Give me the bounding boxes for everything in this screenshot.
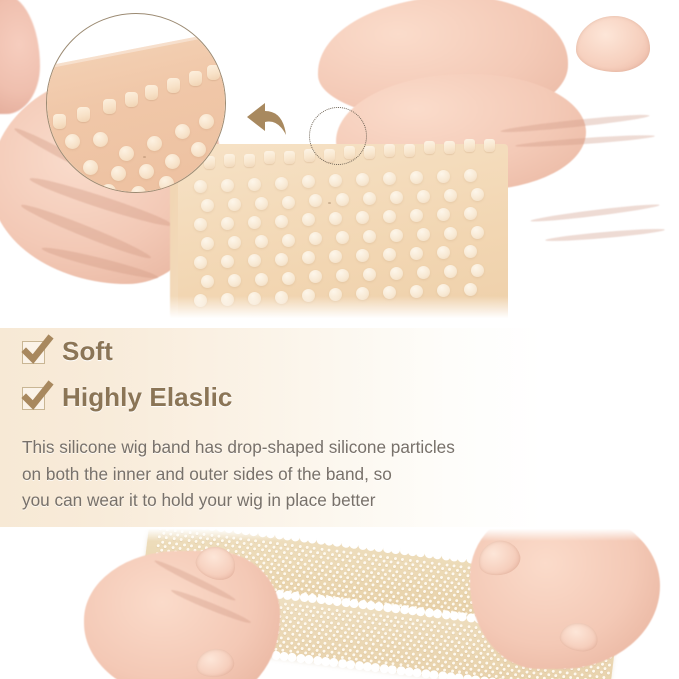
band-particle: [307, 626, 310, 629]
band-particle: [456, 657, 459, 660]
patch-particle: [221, 217, 234, 230]
patch-edge-nub: [284, 151, 295, 164]
band-particle: [351, 632, 354, 635]
band-particle: [521, 674, 524, 677]
band-particle: [407, 656, 410, 659]
patch-particle: [255, 197, 268, 210]
band-particle: [427, 646, 430, 649]
band-particle: [301, 609, 304, 612]
band-particle: [414, 598, 417, 601]
band-particle: [406, 575, 409, 578]
patch-particle: [194, 218, 207, 231]
band-particle: [385, 564, 388, 567]
patch-particle: [356, 173, 369, 186]
band-particle: [360, 557, 363, 560]
band-particle: [335, 579, 338, 582]
band-particle: [440, 575, 443, 578]
band-particle: [326, 586, 329, 589]
band-particle: [464, 591, 467, 594]
band-particle: [388, 569, 391, 572]
band-particle: [430, 621, 433, 624]
band-particle: [386, 615, 389, 618]
band-particle: [413, 644, 416, 647]
band-particle: [307, 559, 310, 562]
band-particle: [286, 645, 289, 648]
band-particle: [263, 553, 266, 556]
band-particle: [421, 577, 424, 580]
band-particle: [440, 634, 443, 637]
band-particle: [503, 667, 506, 670]
band-particle: [334, 558, 337, 561]
band-particle: [335, 609, 338, 612]
band-particle: [404, 651, 407, 654]
patch-edge-nub: [384, 144, 395, 157]
band-particle: [356, 590, 359, 593]
band-particle: [397, 650, 400, 653]
band-particle: [350, 573, 353, 576]
band-particle: [257, 544, 260, 547]
band-particle: [308, 588, 311, 591]
patch-particle: [444, 265, 457, 278]
patch-particle: [444, 189, 457, 202]
band-particle: [342, 610, 345, 613]
band-particle: [294, 638, 297, 641]
band-particle: [466, 633, 469, 636]
band-particle: [323, 582, 326, 585]
band-particle: [280, 568, 283, 571]
magnified-particle: [139, 164, 154, 179]
band-particle: [327, 616, 330, 619]
band-particle: [439, 643, 442, 646]
band-particle: [404, 622, 407, 625]
band-particle: [405, 643, 408, 646]
band-particle: [281, 560, 284, 563]
band-particle: [375, 618, 378, 621]
band-particle: [471, 651, 474, 654]
band-particle: [411, 622, 414, 625]
band-particle: [273, 567, 276, 570]
patch-particle: [282, 196, 295, 209]
band-particle: [190, 544, 193, 547]
band-particle: [329, 561, 332, 564]
magnified-nub: [167, 78, 180, 93]
band-particle: [372, 643, 375, 646]
band-particle: [293, 557, 296, 560]
band-particle: [480, 644, 483, 647]
band-particle: [271, 554, 274, 557]
band-particle: [551, 669, 554, 672]
band-particle: [290, 641, 293, 644]
band-particle: [321, 569, 324, 572]
band-particle: [474, 656, 477, 659]
band-particle: [344, 563, 347, 566]
band-particle: [359, 654, 362, 657]
band-particle: [298, 604, 301, 607]
band-particle: [322, 620, 325, 623]
band-particle: [400, 596, 403, 599]
magnified-speck: [143, 156, 146, 158]
band-particle: [287, 577, 290, 580]
band-particle: [319, 615, 322, 618]
band-particle: [434, 587, 437, 590]
band-particle: [484, 669, 487, 672]
band-particle: [445, 652, 448, 655]
band-particle: [554, 674, 557, 677]
band-particle: [455, 666, 458, 669]
band-particle: [318, 564, 321, 567]
band-particle: [404, 592, 407, 595]
band-particle: [349, 581, 352, 584]
band-particle: [301, 639, 304, 642]
band-particle: [330, 553, 333, 556]
band-particle: [429, 629, 432, 632]
band-particle: [386, 645, 389, 648]
band-particle: [428, 578, 431, 581]
band-particle: [403, 630, 406, 633]
band-particle: [301, 549, 304, 552]
band-particle: [345, 652, 348, 655]
band-particle: [371, 584, 374, 587]
band-particle: [323, 612, 326, 615]
band-particle: [441, 626, 444, 629]
band-particle: [449, 589, 452, 592]
band-particle: [419, 623, 422, 626]
band-particle: [299, 626, 302, 629]
band-particle: [350, 551, 353, 554]
band-stretch-demo-photo: [0, 527, 679, 679]
band-particle: [252, 556, 255, 559]
band-particle: [452, 594, 455, 597]
patch-particle: [417, 190, 430, 203]
band-particle: [393, 565, 396, 568]
patch-particle: [282, 234, 295, 247]
band-particle: [253, 548, 256, 551]
band-particle: [278, 644, 281, 647]
band-particle: [275, 580, 278, 583]
band-particle: [394, 646, 397, 649]
band-particle: [573, 672, 576, 675]
band-particle: [460, 624, 463, 627]
band-particle: [381, 657, 384, 660]
band-particle: [284, 602, 287, 605]
band-particle: [481, 665, 484, 668]
patch-particle: [417, 266, 430, 279]
band-particle: [312, 644, 315, 647]
band-particle: [438, 562, 441, 565]
magnified-particle: [159, 176, 174, 191]
magnified-particle: [199, 114, 214, 129]
band-particle: [379, 614, 382, 617]
feature-label: Soft: [62, 338, 113, 364]
band-particle: [525, 670, 528, 673]
band-particle: [447, 635, 450, 638]
band-particle: [391, 641, 394, 644]
band-particle: [495, 667, 498, 670]
band-particle: [422, 658, 425, 661]
band-particle: [314, 627, 317, 630]
band-particle: [305, 546, 308, 549]
band-particle: [390, 649, 393, 652]
band-particle: [296, 561, 299, 564]
band-particle: [393, 624, 396, 627]
patch-edge-nub: [444, 141, 455, 154]
band-particle: [400, 655, 403, 658]
band-particle: [373, 635, 376, 638]
band-particle: [370, 592, 373, 595]
band-particle: [319, 645, 322, 648]
patch-edge-nub: [464, 139, 475, 152]
band-particle: [366, 596, 369, 599]
band-particle: [348, 627, 351, 630]
band-particle: [285, 556, 288, 559]
band-particle: [308, 618, 311, 621]
band-particle: [479, 652, 482, 655]
band-particle: [438, 584, 441, 587]
band-particle: [328, 570, 331, 573]
band-particle: [349, 649, 352, 652]
band-particle: [416, 581, 419, 584]
band-particle: [467, 625, 470, 628]
patch-edge-nub: [484, 139, 495, 152]
patch-particle: [228, 198, 241, 211]
band-particle: [260, 549, 263, 552]
band-particle: [316, 581, 319, 584]
band-particle: [379, 555, 382, 558]
patch-particle: [221, 255, 234, 268]
band-particle: [506, 672, 509, 675]
band-particle: [422, 569, 425, 572]
band-particle: [425, 633, 428, 636]
band-particle: [388, 599, 391, 602]
band-particle: [353, 645, 356, 648]
band-particle: [291, 633, 294, 636]
band-particle: [357, 612, 360, 615]
band-particle: [297, 583, 300, 586]
band-particle: [458, 603, 461, 606]
band-particle: [478, 660, 481, 663]
band-particle: [454, 577, 457, 580]
band-particle: [279, 576, 282, 579]
patch-particle: [363, 192, 376, 205]
band-particle: [472, 643, 475, 646]
band-particle: [234, 549, 237, 552]
band-particle: [390, 582, 393, 585]
patch-particle: [437, 284, 450, 297]
band-particle: [394, 557, 397, 560]
band-particle: [267, 558, 270, 561]
band-particle: [305, 575, 308, 578]
band-particle: [367, 558, 370, 561]
patch-particle: [390, 267, 403, 280]
magnified-edge-callout: [46, 13, 226, 193]
band-particle: [311, 623, 314, 626]
band-particle: [376, 639, 379, 642]
band-particle: [444, 660, 447, 663]
band-particle: [175, 542, 178, 545]
band-particle: [389, 620, 392, 623]
band-particle: [463, 599, 466, 602]
band-particle: [337, 622, 340, 625]
band-particle: [452, 564, 455, 567]
band-particle: [312, 555, 315, 558]
band-particle: [292, 625, 295, 628]
band-particle: [577, 668, 580, 671]
band-particle: [460, 586, 463, 589]
patch-particle: [437, 208, 450, 221]
band-particle: [455, 599, 458, 602]
band-particle: [396, 629, 399, 632]
band-particle: [459, 574, 462, 577]
band-particle: [437, 592, 440, 595]
band-particle: [441, 656, 444, 659]
band-particle: [483, 648, 486, 651]
band-particle: [489, 657, 492, 660]
band-particle: [298, 574, 301, 577]
patch-particle: [282, 272, 295, 285]
band-particle: [291, 603, 294, 606]
band-particle: [346, 644, 349, 647]
band-particle: [392, 633, 395, 636]
band-particle: [335, 638, 338, 641]
band-particle: [469, 609, 472, 612]
band-particle: [412, 652, 415, 655]
band-particle: [402, 579, 405, 582]
band-particle: [372, 613, 375, 616]
band-particle: [595, 675, 598, 678]
band-particle: [517, 669, 520, 672]
band-particle: [442, 588, 445, 591]
band-particle: [371, 651, 374, 654]
patch-particle: [248, 178, 261, 191]
band-particle: [430, 591, 433, 594]
band-particle: [499, 671, 502, 674]
band-particle: [294, 578, 297, 581]
band-particle: [409, 639, 412, 642]
band-particle: [303, 562, 306, 565]
band-particle: [468, 646, 471, 649]
band-particle: [249, 551, 252, 554]
band-particle: [401, 647, 404, 650]
product-image: Soft Highly Elaslic This silicone wig ba…: [0, 0, 679, 679]
band-particle: [434, 655, 437, 658]
band-particle: [462, 667, 465, 670]
band-particle: [410, 631, 413, 634]
patch-particle: [201, 275, 214, 288]
band-particle: [338, 554, 341, 557]
band-particle: [475, 647, 478, 650]
band-particle: [402, 638, 405, 641]
band-particle: [408, 647, 411, 650]
band-particle: [347, 636, 350, 639]
patch-particle: [464, 169, 477, 182]
band-particle: [320, 637, 323, 640]
band-particle: [283, 543, 286, 546]
band-particle: [430, 650, 433, 653]
band-particle: [432, 574, 435, 577]
band-particle: [329, 629, 332, 632]
patch-particle: [383, 172, 396, 185]
band-particle: [420, 586, 423, 589]
band-particle: [461, 645, 464, 648]
band-particle: [319, 586, 322, 589]
band-particle: [428, 637, 431, 640]
band-particle: [607, 672, 610, 675]
band-particle: [392, 595, 395, 598]
band-particle: [423, 590, 426, 593]
patch-particle: [390, 229, 403, 242]
band-particle: [410, 572, 413, 575]
band-particle: [398, 642, 401, 645]
band-particle: [513, 673, 516, 676]
band-particle: [298, 634, 301, 637]
band-particle: [435, 646, 438, 649]
band-particle: [242, 542, 245, 545]
band-particle: [357, 641, 360, 644]
patch-edge-nub: [224, 154, 235, 167]
band-particle: [507, 664, 510, 667]
band-particle: [349, 619, 352, 622]
band-particle: [436, 600, 439, 603]
band-particle: [292, 565, 295, 568]
magnified-band-surface: [46, 24, 226, 193]
band-particle: [378, 593, 381, 596]
band-particle: [418, 602, 421, 605]
band-particle: [366, 625, 369, 628]
band-particle: [365, 634, 368, 637]
band-particle: [604, 667, 607, 670]
band-particle: [250, 543, 253, 546]
band-particle: [304, 584, 307, 587]
band-particle: [482, 656, 485, 659]
band-particle: [268, 549, 271, 552]
band-particle: [600, 663, 603, 666]
band-particle: [458, 641, 461, 644]
band-particle: [395, 570, 398, 573]
band-particle: [335, 549, 338, 552]
band-particle: [451, 661, 454, 664]
band-particle: [408, 618, 411, 621]
band-particle: [272, 575, 275, 578]
magnified-nub: [53, 114, 66, 129]
band-particle: [302, 571, 305, 574]
band-particle: [407, 567, 410, 570]
band-particle: [441, 597, 444, 600]
band-particle: [331, 583, 334, 586]
band-particle: [238, 546, 241, 549]
band-particle: [364, 642, 367, 645]
band-particle: [429, 599, 432, 602]
band-particle: [451, 632, 454, 635]
band-particle: [338, 643, 341, 646]
band-particle: [376, 580, 379, 583]
band-particle: [357, 582, 360, 585]
band-particle: [266, 566, 269, 569]
band-particle: [352, 556, 355, 559]
band-particle: [422, 599, 425, 602]
band-particle: [377, 631, 380, 634]
band-particle: [367, 617, 370, 620]
band-particle: [389, 561, 392, 564]
band-particle: [466, 604, 469, 607]
band-particle: [429, 658, 432, 661]
band-particle: [351, 564, 354, 567]
band-particle: [466, 574, 469, 577]
band-particle: [183, 543, 186, 546]
band-particle: [380, 635, 383, 638]
band-particle: [325, 633, 328, 636]
band-particle: [491, 670, 494, 673]
band-particle: [476, 639, 479, 642]
